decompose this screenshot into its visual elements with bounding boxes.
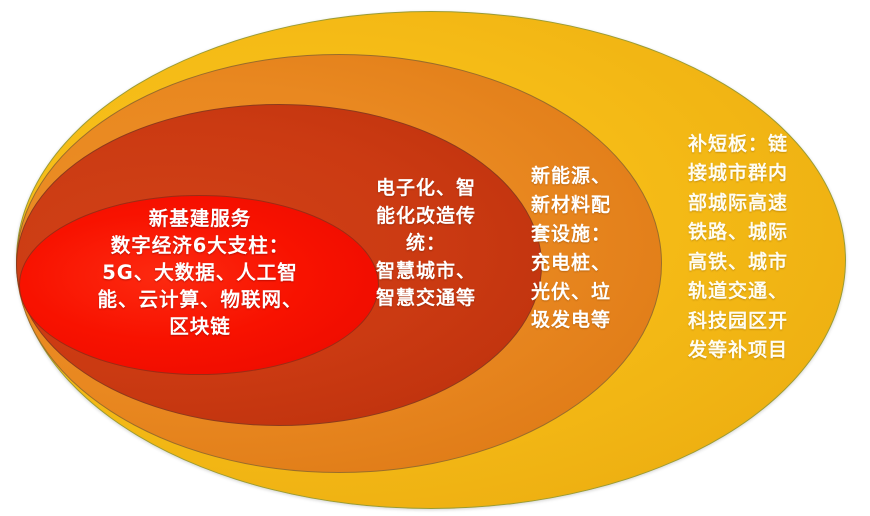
nested-ellipse-diagram: 补短板：链 接城市群内 部城际高速 铁路、城际 高铁、城市 轨道交通、 科技园区… <box>0 0 870 516</box>
ellipse-core <box>19 195 379 375</box>
